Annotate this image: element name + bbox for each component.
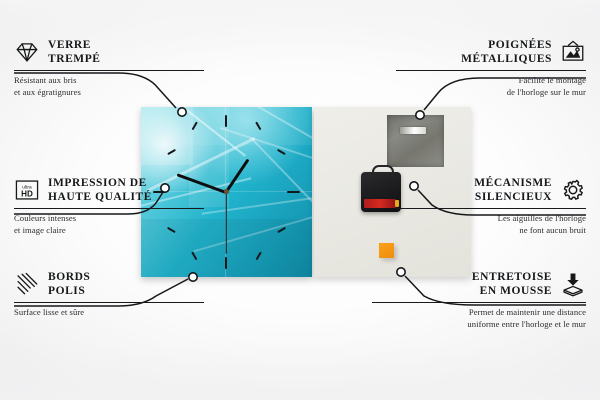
- hour-marker: [192, 122, 198, 131]
- feature-description: Couleurs intenses et image claire: [14, 213, 204, 237]
- hour-marker: [277, 149, 286, 155]
- feature-header: VERRE TREMPÉ: [14, 38, 204, 66]
- feature-header: BORDS POLIS: [14, 270, 204, 298]
- foam-spacer-icon: [560, 271, 586, 297]
- divider: [396, 70, 586, 71]
- feature-description: Surface lisse et sûre: [14, 307, 204, 319]
- feature-poignees-metalliques: POIGNÉES MÉTALLIQUES Facilite le montage…: [396, 38, 586, 99]
- feature-description: Résistant aux bris et aux égratignures: [14, 75, 204, 99]
- divider: [372, 302, 586, 303]
- metallic-hanger-plate: [387, 115, 444, 167]
- feature-bords-polis: BORDS POLIS Surface lisse et sûre: [14, 270, 204, 319]
- hour-marker: [192, 252, 198, 261]
- hour-marker: [256, 252, 262, 261]
- hanger-loop: [372, 165, 394, 177]
- feature-header: MÉCANISME SILENCIEUX: [396, 176, 586, 204]
- divider: [14, 208, 204, 209]
- picture-hanger-icon: [560, 39, 586, 65]
- svg-text:HD: HD: [21, 190, 33, 199]
- feature-description: Facilite le montage de l'horloge sur le …: [396, 75, 586, 99]
- hour-marker: [225, 257, 227, 269]
- divider: [396, 208, 586, 209]
- divider: [14, 70, 204, 71]
- infographic-canvas: VERRE TREMPÉ Résistant aux bris et aux é…: [0, 0, 600, 400]
- hour-marker: [287, 191, 300, 193]
- hour-marker: [225, 115, 227, 127]
- feature-title: POIGNÉES MÉTALLIQUES: [461, 38, 552, 66]
- polished-edges-icon: [14, 271, 40, 297]
- feature-header: ultra HD IMPRESSION DE HAUTE QUALITÉ: [14, 176, 204, 204]
- feature-title: MÉCANISME SILENCIEUX: [474, 176, 552, 204]
- feature-header: ENTRETOISE EN MOUSSE: [372, 270, 586, 298]
- feature-title: BORDS POLIS: [48, 270, 90, 298]
- feature-title: VERRE TREMPÉ: [48, 38, 101, 66]
- hour-marker: [167, 149, 176, 155]
- quartz-movement-box: [361, 172, 401, 212]
- diamond-icon: [14, 39, 40, 65]
- hour-hand: [225, 159, 250, 194]
- feature-verre-trempe: VERRE TREMPÉ Résistant aux bris et aux é…: [14, 38, 204, 99]
- second-hand: [225, 192, 226, 254]
- feature-description: Permet de maintenir une distance uniform…: [372, 307, 586, 331]
- center-cap: [224, 189, 229, 194]
- feature-impression-haute-qualite: ultra HD IMPRESSION DE HAUTE QUALITÉ Cou…: [14, 176, 204, 237]
- feature-title: ENTRETOISE EN MOUSSE: [472, 270, 552, 298]
- hour-marker: [277, 227, 286, 233]
- gear-icon: [560, 177, 586, 203]
- feature-description: Les aiguilles de l'horloge ne font aucun…: [396, 213, 586, 237]
- feature-mecanisme-silencieux: MÉCANISME SILENCIEUX Les aiguilles de l'…: [396, 176, 586, 237]
- hour-marker: [256, 122, 262, 131]
- ultra-hd-icon: ultra HD: [14, 177, 40, 203]
- feature-entretoise-en-mousse: ENTRETOISE EN MOUSSE Permet de maintenir…: [372, 270, 586, 331]
- feature-title: IMPRESSION DE HAUTE QUALITÉ: [48, 176, 152, 204]
- foam-spacer: [379, 243, 394, 258]
- divider: [14, 302, 204, 303]
- battery: [364, 199, 396, 208]
- feature-header: POIGNÉES MÉTALLIQUES: [396, 38, 586, 66]
